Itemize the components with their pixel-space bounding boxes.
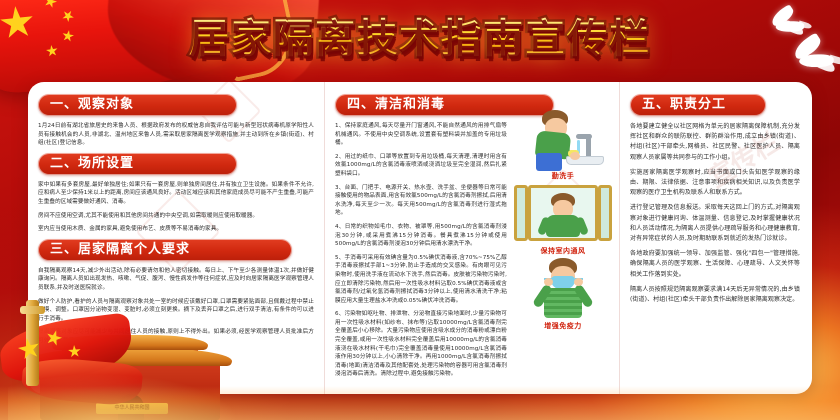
section-body-4-p5: 5、手消毒可采用有效碘含量为0.5%碘伏消毒液,含70%~75%乙醇手消毒液擦拭… (335, 254, 507, 306)
section-body-4-p1: 1、保持家庭通风,每天尽量开门窗通风,不能自然通风的用排气扇等机械通风。不使用中… (335, 122, 507, 148)
illustration-caption: 增强免疫力 (511, 321, 615, 331)
section-body-5-p5: 隔离人员按照规范隔离观察要求满14天后无异常情况的,由乡镇(街道)、村组(社区)… (630, 285, 800, 305)
illustration-caption: 勤洗手 (511, 171, 615, 181)
section-body-5-p3: 进行登记管理及信息报送。采取每天这回上门的方式,对隔离观察对象进行健康问询、体温… (630, 203, 800, 244)
faucet-pipe (586, 134, 591, 158)
section-body-4-p6: 6、污染物如呕吐物、排泄物、分泌物直接污染地面时,少量污染物可用一次性吸水材料(… (335, 310, 507, 379)
poster-title: 居家隔离技术指南宣传栏 (0, 16, 840, 62)
window-sash (514, 185, 528, 241)
section-body-3-p1: 自我隔离观察14天,减少外出活动,除有必要请勿和他人密切接触。每日上、下午至少各… (38, 267, 314, 293)
section-heading-3: 三、居家隔离个人要求 (38, 239, 292, 261)
section-body-1: 1月24日前有湖北省旅居史的来鲁人员、根据政府发布的权威信息自我评估可能与新型冠… (38, 122, 314, 148)
poster-root: 居家隔离技术指南宣传栏 居家隔离技术指南宣传栏 一、观察对象 1月24日前有湖北… (0, 0, 840, 420)
section-body-2-p1: 家中如果有多套房屋,最好单独居住;如果只有一套房屋,则单独房间居住,并有独立卫生… (38, 181, 314, 207)
section-body-5-p2: 实施居家隔离医学观察时,应当书面或口头告知医学观察的缘由、期限、法律依据、注意事… (630, 168, 800, 199)
hand (574, 278, 583, 286)
ventilation-illustration: 保持室内通风 (511, 183, 615, 256)
content-board: 一、观察对象 1月24日前有湖北省旅居史的来鲁人员、根据政府发布的权威信息自我评… (28, 82, 812, 394)
section-body-4-p3: 3、台面、门把手、电源开关、热水壶、洗手盆、坐便器等日常可能接触使用的物品表面,… (335, 184, 507, 218)
section-body-2-p3: 室内应当使用木质、金属的家具,避免使用布艺、皮质等不易消毒的家具。 (38, 225, 314, 234)
face-mask-illustration: 增强免疫力 (511, 258, 615, 331)
section-body-2-p2: 房间不应使用空调,尤其不能使用和其他房间共通的中央空调,如需取暖则应使用取暖器。 (38, 212, 314, 221)
wash-hands-illustration: 勤洗手 (511, 108, 615, 181)
bottom-light-sweep (0, 386, 840, 420)
section-body-3-p3: 隔离观察对象应尽可能减少与共同居住人员的接触,原则上不得外出。如果必须,经医学观… (38, 328, 314, 345)
section-heading-2: 二、场所设置 (38, 153, 237, 175)
column-2: 四、清洁和消毒 1、保持家庭通风,每天尽量开门窗通风,不能自然通风的用排气扇等机… (324, 82, 620, 394)
illustration-caption: 保持室内通风 (511, 246, 615, 256)
section-heading-5: 五、职责分工 (630, 94, 766, 116)
hand (570, 152, 580, 160)
window-sash (598, 185, 612, 241)
pants (536, 153, 562, 171)
section-body-3-p2: 做好个人防护,看护的人员与隔离观察对象共处一室的时候应该戴好口罩,口罩需要紧贴面… (38, 298, 314, 324)
illustration-stack: 勤洗手 保持室内通风 (511, 108, 615, 333)
section-body-5-p4: 各地政府要加强统一领导、加强监管、强化"四包一"管理措施,确保隔离人员的医学观察… (630, 249, 800, 280)
hand (544, 278, 553, 286)
column-3: 宣传栏 五、职责分工 各地要建立健全以社区网格为单元的居家隔离保障机制,充分发挥… (620, 82, 810, 394)
column-1: 一、观察对象 1月24日前有湖北省旅居史的来鲁人员、根据政府发布的权威信息自我评… (28, 82, 324, 394)
section-body-4-p2: 2、用过的纸巾、口罩等放置到专用垃圾桶,每天清理,清理时用含有效氯1000mg/… (335, 153, 507, 179)
section-heading-1: 一、观察对象 (38, 94, 237, 116)
torso (546, 215, 580, 237)
section-body-5-p1: 各地要建立健全以社区网格为单元的居家隔离保障机制,充分发挥社区和群众的联防联控、… (630, 122, 800, 163)
section-body-4-p4: 4、日常的织物如毛巾、衣物、被罩等,用500mg/L的含氯消毒剂浸泡30分钟,或… (335, 223, 507, 249)
